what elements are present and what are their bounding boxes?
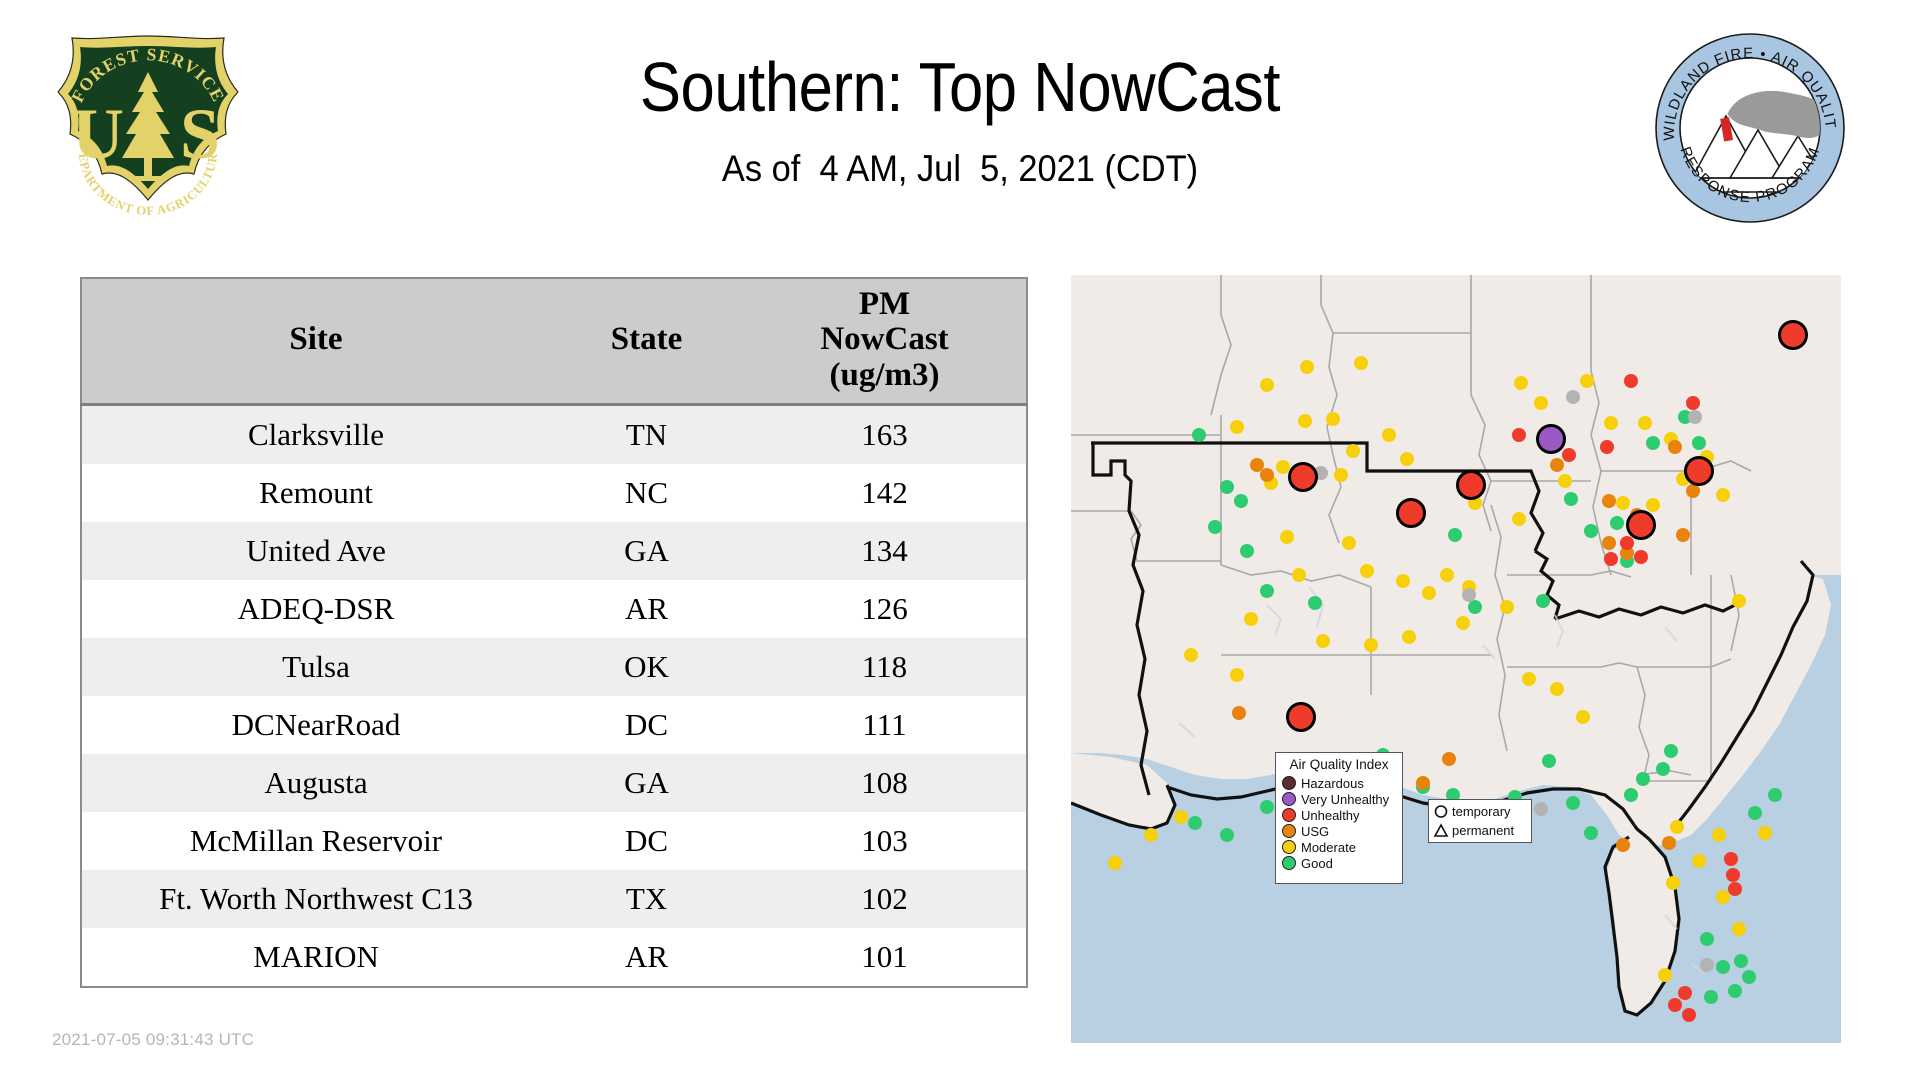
top-site-marker — [1288, 704, 1315, 731]
site-type-permanent-label: permanent — [1452, 824, 1514, 837]
site-cell: Clarksville — [81, 404, 550, 464]
aqi-legend-label: Good — [1301, 857, 1333, 870]
pm-nowcast-cell: 163 — [743, 404, 1027, 464]
us-forest-service-logo: FOREST SERVICE DEPARTMENT OF AGRICULTURE… — [48, 30, 248, 226]
table-row: United AveGA134 — [81, 522, 1027, 580]
pm-nowcast-cell: 126 — [743, 580, 1027, 638]
aqi-legend-item: Good — [1282, 855, 1396, 871]
column-header-pm-nowcast: PM NowCast (ug/m3) — [743, 278, 1027, 404]
site-cell: McMillan Reservoir — [81, 812, 550, 870]
page-subtitle: As of 4 AM, Jul 5, 2021 (CDT) — [328, 150, 1593, 187]
table-row: TulsaOK118 — [81, 638, 1027, 696]
aqi-legend-swatch — [1282, 776, 1296, 790]
aqi-legend-item: Very Unhealthy — [1282, 791, 1396, 807]
top-site-marker — [1686, 458, 1713, 485]
site-type-permanent: permanent — [1433, 821, 1527, 840]
table-row: AugustaGA108 — [81, 754, 1027, 812]
site-cell: Remount — [81, 464, 550, 522]
column-header-pm-line2: NowCast — [747, 322, 1022, 357]
state-cell: GA — [550, 754, 743, 812]
column-header-state: State — [550, 278, 743, 404]
pm-nowcast-cell: 101 — [743, 928, 1027, 987]
state-cell: GA — [550, 522, 743, 580]
aqi-legend-swatch — [1282, 840, 1296, 854]
wfaqrp-logo: WILDLAND FIRE • AIR QUALITY RESPONSE PRO… — [1652, 30, 1848, 226]
pm-nowcast-cell: 118 — [743, 638, 1027, 696]
site-cell: United Ave — [81, 522, 550, 580]
aqi-legend-label: Moderate — [1301, 841, 1356, 854]
top-site-marker — [1538, 426, 1565, 453]
pm-nowcast-cell: 134 — [743, 522, 1027, 580]
aqi-legend-item: Moderate — [1282, 839, 1396, 855]
top-nowcast-table-container: Site State PM NowCast (ug/m3) Clarksvill… — [80, 277, 1000, 988]
column-header-site: Site — [81, 278, 550, 404]
site-cell: Ft. Worth Northwest C13 — [81, 870, 550, 928]
table-row: Ft. Worth Northwest C13TX102 — [81, 870, 1027, 928]
page-title: Southern: Top NowCast — [362, 52, 1559, 122]
aqi-legend-swatch — [1282, 824, 1296, 838]
state-cell: AR — [550, 580, 743, 638]
footer-timestamp: 2021-07-05 09:31:43 UTC — [52, 1030, 254, 1050]
table-row: ADEQ-DSRAR126 — [81, 580, 1027, 638]
top-site-marker — [1458, 472, 1485, 499]
state-cell: AR — [550, 928, 743, 987]
aqi-legend-item: Hazardous — [1282, 775, 1396, 791]
column-header-pm-line1: PM — [747, 287, 1022, 322]
aqi-legend-label: USG — [1301, 825, 1329, 838]
table-row: McMillan ReservoirDC103 — [81, 812, 1027, 870]
circle-outline-icon — [1433, 803, 1449, 820]
pm-nowcast-cell: 102 — [743, 870, 1027, 928]
state-cell: NC — [550, 464, 743, 522]
aqi-legend-swatch — [1282, 792, 1296, 806]
state-cell: DC — [550, 812, 743, 870]
pm-nowcast-cell: 142 — [743, 464, 1027, 522]
state-cell: DC — [550, 696, 743, 754]
table-row: ClarksvilleTN163 — [81, 404, 1027, 464]
table-header: Site State PM NowCast (ug/m3) — [81, 278, 1027, 404]
top-nowcast-table: Site State PM NowCast (ug/m3) Clarksvill… — [80, 277, 1028, 988]
usfs-shield-icon: FOREST SERVICE DEPARTMENT OF AGRICULTURE… — [48, 30, 248, 226]
header: FOREST SERVICE DEPARTMENT OF AGRICULTURE… — [0, 0, 1920, 250]
aqi-legend-title: Air Quality Index — [1282, 757, 1396, 772]
aqi-legend-label: Unhealthy — [1301, 809, 1360, 822]
aqi-legend-item: Unhealthy — [1282, 807, 1396, 823]
usfs-letter-u: U — [72, 94, 124, 174]
aqi-legend-rows: HazardousVery UnhealthyUnhealthyUSGModer… — [1282, 775, 1396, 871]
column-header-pm-line3: (ug/m3) — [747, 358, 1022, 393]
site-type-temporary: temporary — [1433, 802, 1527, 821]
pm-nowcast-cell: 111 — [743, 696, 1027, 754]
table-row: MARIONAR101 — [81, 928, 1027, 987]
aqi-legend-item: USG — [1282, 823, 1396, 839]
pm-nowcast-cell: 103 — [743, 812, 1027, 870]
table-row: RemountNC142 — [81, 464, 1027, 522]
aqi-legend: Air Quality Index HazardousVery Unhealth… — [1275, 752, 1403, 884]
site-cell: DCNearRoad — [81, 696, 550, 754]
site-type-temporary-label: temporary — [1452, 805, 1511, 818]
pm-nowcast-cell: 108 — [743, 754, 1027, 812]
wfaqrp-circle-icon: WILDLAND FIRE • AIR QUALITY RESPONSE PRO… — [1652, 30, 1848, 226]
triangle-outline-icon — [1433, 822, 1449, 839]
table-row: DCNearRoadDC111 — [81, 696, 1027, 754]
state-cell: OK — [550, 638, 743, 696]
aqi-legend-swatch — [1282, 808, 1296, 822]
state-cell: TN — [550, 404, 743, 464]
top-site-marker — [1780, 322, 1807, 349]
site-cell: ADEQ-DSR — [81, 580, 550, 638]
usfs-letter-s: S — [180, 94, 220, 174]
table-body: ClarksvilleTN163RemountNC142United AveGA… — [81, 404, 1027, 987]
site-type-legend: temporary permanent — [1428, 799, 1532, 843]
aqi-legend-label: Very Unhealthy — [1301, 793, 1389, 806]
top-site-marker — [1398, 500, 1425, 527]
aqi-legend-swatch — [1282, 856, 1296, 870]
aqi-legend-label: Hazardous — [1301, 777, 1364, 790]
map-canvas — [1071, 275, 1841, 1043]
table-header-row: Site State PM NowCast (ug/m3) — [81, 278, 1027, 404]
top-site-marker — [1628, 512, 1655, 539]
site-cell: Augusta — [81, 754, 550, 812]
top-site-marker — [1290, 464, 1317, 491]
state-cell: TX — [550, 870, 743, 928]
site-cell: Tulsa — [81, 638, 550, 696]
site-cell: MARION — [81, 928, 550, 987]
aqi-map[interactable]: Air Quality Index HazardousVery Unhealth… — [1071, 275, 1841, 1043]
